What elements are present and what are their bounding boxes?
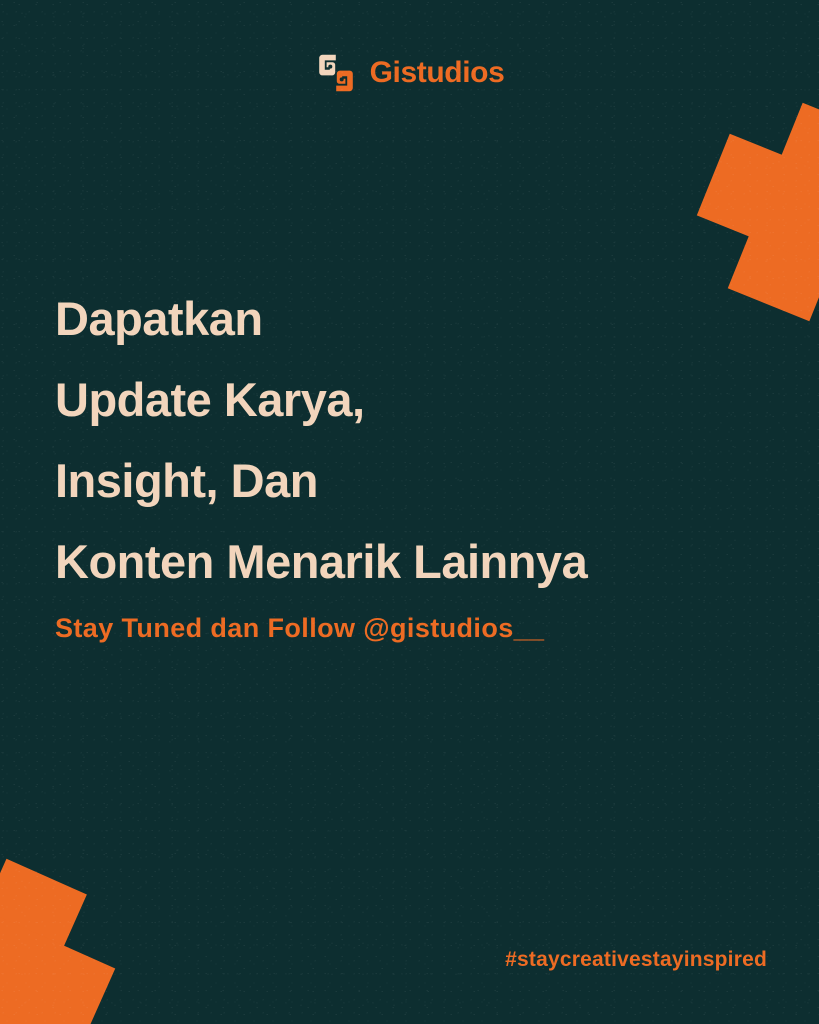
subtitle-call-to-action: Stay Tuned dan Follow @gistudios__ <box>55 613 755 644</box>
gistudios-logo-icon <box>315 52 357 94</box>
poster-canvas: Gistudios Dapatkan Update Karya, Insight… <box>0 0 819 1024</box>
headline-line-4: Konten Menarik Lainnya <box>55 521 755 602</box>
headline-line-3: Insight, Dan <box>55 440 755 521</box>
hashtag-label: #staycreativestayinspired <box>505 948 767 972</box>
headline-line-1: Dapatkan <box>55 278 755 359</box>
headline-block: Dapatkan Update Karya, Insight, Dan Kont… <box>55 278 755 644</box>
brand-name: Gistudios <box>370 58 505 88</box>
headline-line-2: Update Karya, <box>55 359 755 440</box>
brand-lockup: Gistudios <box>0 52 819 94</box>
cross-shape-bottom-left-icon <box>0 836 138 1024</box>
